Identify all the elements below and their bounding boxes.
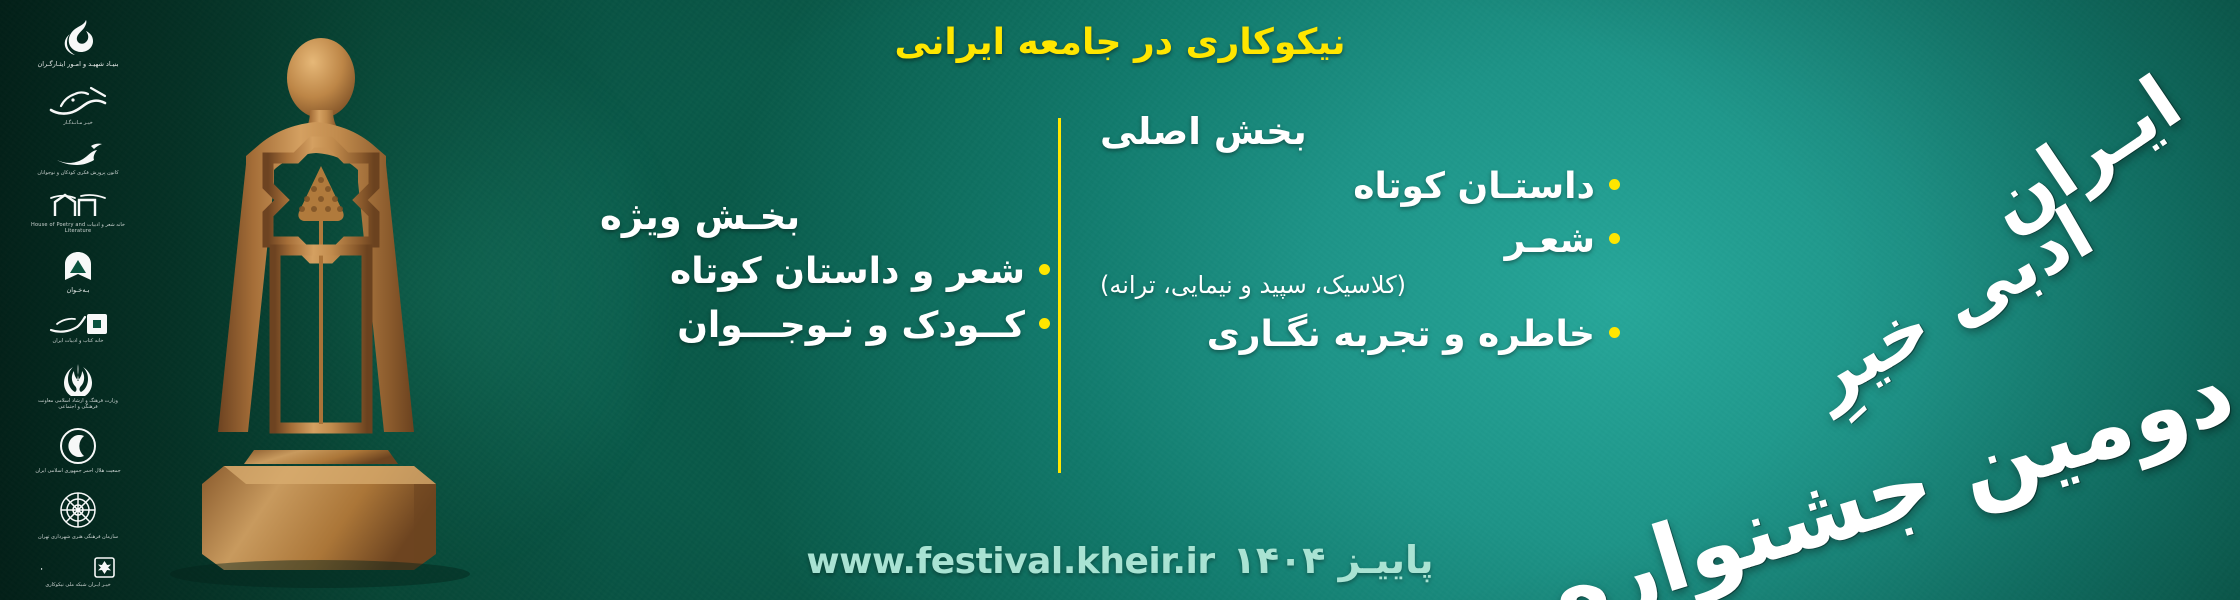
sponsor-logo-item: خیـر مـانـدگـار <box>47 84 109 126</box>
sponsor-logo-rail: بنیـاد شهیـد و امـور ایثـارگـران خیـر مـ… <box>28 18 128 588</box>
festival-website-url[interactable]: www.festival.kheir.ir <box>806 541 1214 582</box>
sponsor-logo-caption: خیـر مـانـدگـار <box>63 120 92 126</box>
bullet-dot-icon <box>1609 179 1620 190</box>
main-section-title: بخش اصلی <box>1100 110 1620 153</box>
sponsor-logo-caption: خانه شعر و ادبیات House of Poetry and Li… <box>30 222 126 235</box>
list-item-label: خاطره و تجربه نگـاری <box>1207 313 1595 357</box>
festival-calligraphy-title: ایـران ادبی خیرِ دومین جشنواره <box>1626 34 2236 434</box>
special-section-column: بخـش ویژه شعر و داستان کوتاه کــودک و نـ… <box>600 195 1050 358</box>
special-section-list: شعر و داستان کوتاه کــودک و نـوجـــوان <box>600 250 1050 348</box>
house-logo-icon <box>47 192 109 220</box>
special-section-title: بخـش ویژه <box>600 195 1050 238</box>
list-item: داستـان کوتاه <box>1100 165 1620 209</box>
list-item-label: داستـان کوتاه <box>1353 165 1595 209</box>
sponsor-logo-item: بنیـاد شهیـد و امـور ایثـارگـران <box>37 18 118 68</box>
sponsor-logo-caption: خیـر ایـران شبکه ملی نیکوکاری <box>45 582 110 588</box>
sponsor-logo-caption: کانون پرورش فکری کودکان و نوجوانان <box>37 170 118 176</box>
book-arch-logo-icon <box>61 250 95 284</box>
list-item: کــودک و نـوجـــوان <box>600 304 1050 348</box>
flame-emblem-logo-icon <box>56 18 100 58</box>
sponsor-logo-item: وزارت فرهنگ و ارشاد اسلامی معاونت فرهنگی… <box>30 360 126 411</box>
main-section-column: بخش اصلی داستـان کوتاه شعـر (کلاسیک، سپی… <box>1100 110 1620 367</box>
poetry-subtypes-note: (کلاسیک، سپید و نیمایی، ترانه) <box>1100 271 1595 299</box>
list-item: شعـر <box>1100 219 1620 263</box>
tehran-municipality-logo-icon <box>55 490 101 532</box>
bullet-dot-icon <box>1609 327 1620 338</box>
list-item-note: (کلاسیک، سپید و نیمایی، ترانه) <box>1100 271 1620 299</box>
sponsor-logo-item: کانون پرورش فکری کودکان و نوجوانان <box>37 142 118 176</box>
list-item: شعر و داستان کوتاه <box>600 250 1050 294</box>
sponsor-logo-caption: جمعیت هلال احمر جمهوری اسلامی ایران <box>35 468 120 474</box>
bullet-dot-icon <box>1039 264 1050 275</box>
sponsor-logo-item: خانه کتاب و ادبیات ایران <box>47 310 109 344</box>
trophy-statue <box>150 18 480 590</box>
red-crescent-logo-icon <box>58 426 98 466</box>
sponsor-logo-caption: خانه کتاب و ادبیات ایران <box>53 338 104 344</box>
sponsor-logo-item: بـه‌خـوان <box>61 250 95 294</box>
list-item: خاطره و تجربه نگـاری <box>1100 313 1620 357</box>
sponsor-logo-item: سازمان فرهنگی هنری شهرداری تهران <box>38 490 118 540</box>
sponsor-logo-item: جمعیت هلال احمر جمهوری اسلامی ایران <box>35 426 120 474</box>
list-item-label: کــودک و نـوجـــوان <box>677 304 1025 348</box>
iran-emblem-logo-icon <box>58 360 98 396</box>
sponsor-logo-caption: بنیـاد شهیـد و امـور ایثـارگـران <box>37 60 118 68</box>
bullet-dot-icon <box>1039 318 1050 329</box>
bird-logo-icon <box>51 142 105 168</box>
sponsor-logo-item: خانه شعر و ادبیات House of Poetry and Li… <box>30 192 126 235</box>
festival-banner: بنیـاد شهیـد و امـور ایثـارگـران خیـر مـ… <box>0 0 2240 600</box>
bullet-dot-icon <box>1609 233 1620 244</box>
sponsor-logo-caption: وزارت فرهنگ و ارشاد اسلامی معاونت فرهنگی… <box>30 398 126 411</box>
sponsor-logo-caption: بـه‌خـوان <box>66 286 89 294</box>
kh-letter-logo-icon <box>47 310 109 336</box>
festival-season: پاییـز ۱۴۰۴ <box>1233 538 1434 582</box>
footer: پاییـز ۱۴۰۴ www.festival.kheir.ir <box>0 538 2240 582</box>
page-title: نیکوکاری در جامعه ایرانی <box>800 22 1440 63</box>
list-item-label: شعـر <box>1505 219 1595 263</box>
main-section-list: داستـان کوتاه شعـر (کلاسیک، سپید و نیمای… <box>1100 165 1620 357</box>
calligraphy-logo-icon <box>47 84 109 118</box>
trophy-statue-icon <box>150 18 480 590</box>
list-item-label: شعر و داستان کوتاه <box>670 250 1025 294</box>
column-divider <box>1058 118 1061 473</box>
